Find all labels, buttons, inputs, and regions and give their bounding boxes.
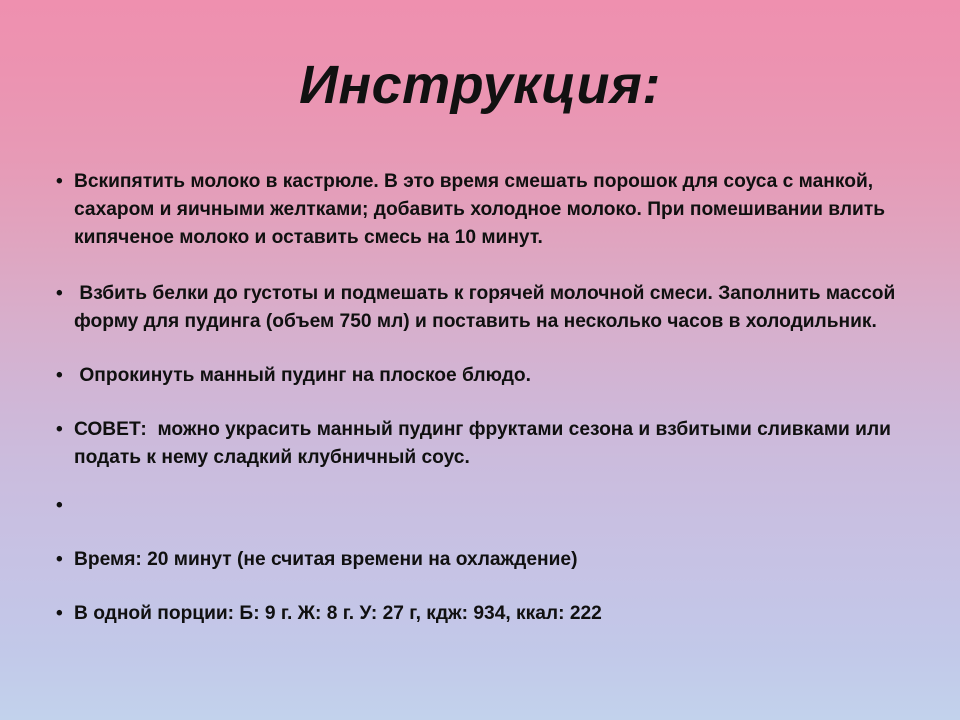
list-item-text: Взбить белки до густоты и подмешать к го… [74,280,908,336]
bullet-icon: • [56,546,70,574]
presentation-slide: Инструкция: • Вскипятить молоко в кастрю… [0,0,960,720]
list-item-text: СОВЕТ: можно украсить манный пудинг фрук… [74,416,908,472]
bullet-icon: • [56,416,70,444]
bullet-icon: • [56,600,70,628]
list-item: • В одной порции: Б: 9 г. Ж: 8 г. У: 27 … [48,600,908,628]
list-item: • Опрокинуть манный пудинг на плоское бл… [48,362,908,390]
list-item-text: В одной порции: Б: 9 г. Ж: 8 г. У: 27 г,… [74,600,908,628]
list-item-text: Опрокинуть манный пудинг на плоское блюд… [74,362,908,390]
bullet-icon: • [56,280,70,308]
list-item: • Вскипятить молоко в кастрюле. В это вр… [48,168,908,252]
list-item-text: Время: 20 минут (не считая времени на ох… [74,546,908,574]
bullet-icon: • [56,168,70,196]
list-item: • СОВЕТ: можно украсить манный пудинг фр… [48,416,908,472]
list-item-empty: • [48,492,908,520]
list-item: • Время: 20 минут (не считая времени на … [48,546,908,574]
list-item: • Взбить белки до густоты и подмешать к … [48,280,908,336]
list-item-text: Вскипятить молоко в кастрюле. В это врем… [74,168,908,252]
instruction-bullet-list: • Вскипятить молоко в кастрюле. В это вр… [48,168,908,628]
page-title: Инструкция: [0,54,960,116]
bullet-icon: • [56,362,70,390]
bullet-icon: • [56,492,70,520]
